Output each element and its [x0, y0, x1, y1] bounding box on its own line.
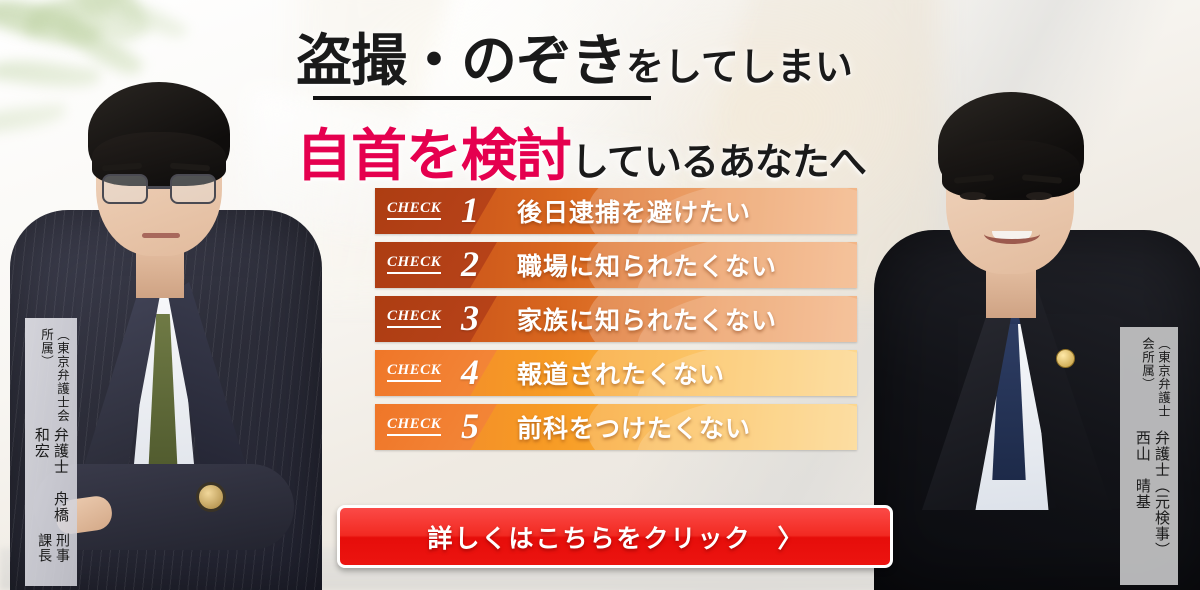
check-text: 職場に知られたくない: [517, 242, 777, 288]
headline-line-2: 自首を検討しているあなたへ: [296, 111, 906, 192]
check-number: 5: [461, 405, 479, 447]
check-label: CHECK: [387, 416, 441, 436]
headline: 盗撮・のぞきをしてしまい 自首を検討しているあなたへ: [296, 16, 906, 186]
check-number: 4: [461, 351, 479, 393]
attorney-right-nameplate: 弁護士（元検事） 西山 晴基 （東京弁護士会所属）: [1120, 327, 1178, 585]
headline-underline: [313, 96, 651, 100]
check-row-5[interactable]: CHECK 5 前科をつけたくない: [375, 404, 857, 450]
promo-banner: 刑事課長 弁護士 舟橋 和宏 （東京弁護士会所属） 弁護士（元検事） 西山 晴基…: [0, 0, 1200, 590]
check-text: 家族に知られたくない: [517, 296, 777, 342]
attorney-left-name: 弁護士 舟橋 和宏: [32, 427, 70, 531]
mouth: [142, 233, 180, 238]
eye: [1026, 192, 1052, 200]
chevron-right-icon: 〉: [778, 519, 803, 555]
cta-button-label: 詳しくはこちらをクリック: [427, 519, 751, 555]
attorney-left-role: 刑事課長: [32, 533, 70, 576]
check-label: CHECK: [387, 200, 441, 220]
eyeglasses-icon: [100, 174, 218, 206]
check-row-2[interactable]: CHECK 2 職場に知られたくない: [375, 242, 857, 288]
check-number: 3: [461, 297, 479, 339]
eye: [960, 192, 986, 200]
attorney-right-name: 弁護士（元検事） 西山 晴基: [1127, 430, 1171, 575]
checklist: CHECK 1 後日逮捕を避けたい CHECK 2 職場に知られたくない CHE…: [375, 188, 857, 458]
headline-accent-phrase: 自首を検討: [296, 123, 571, 189]
check-row-4[interactable]: CHECK 4 報道されたくない: [375, 350, 857, 396]
check-row-1[interactable]: CHECK 1 後日逮捕を避けたい: [375, 188, 857, 234]
check-label: CHECK: [387, 254, 441, 274]
check-number: 2: [461, 243, 479, 285]
headline-line-2-tail: しているあなたへ: [571, 139, 866, 184]
attorney-left-bar-association: （東京弁護士会所属）: [32, 328, 70, 425]
check-number: 1: [461, 189, 479, 231]
cta-button[interactable]: 詳しくはこちらをクリック 〉: [337, 505, 893, 568]
check-label: CHECK: [387, 362, 441, 382]
check-row-3[interactable]: CHECK 3 家族に知られたくない: [375, 296, 857, 342]
headline-line-1-tail: をしてしまい: [626, 44, 853, 89]
headline-line-1-main: 盗撮・のぞき: [296, 28, 626, 94]
hair-fringe: [942, 140, 1080, 198]
mouth: [984, 224, 1040, 244]
attorney-right-bar-association: （東京弁護士会所属）: [1127, 337, 1171, 428]
headline-line-1: 盗撮・のぞきをしてしまい: [296, 16, 906, 97]
check-text: 前科をつけたくない: [517, 404, 751, 450]
check-text: 報道されたくない: [517, 350, 725, 396]
headline-accent-text: 自首を検討: [296, 123, 571, 189]
wristwatch-icon: [196, 482, 226, 512]
attorney-badge-icon: [1056, 349, 1075, 368]
check-text: 後日逮捕を避けたい: [517, 188, 751, 234]
check-label: CHECK: [387, 308, 441, 328]
attorney-left-nameplate: 刑事課長 弁護士 舟橋 和宏 （東京弁護士会所属）: [25, 318, 77, 586]
